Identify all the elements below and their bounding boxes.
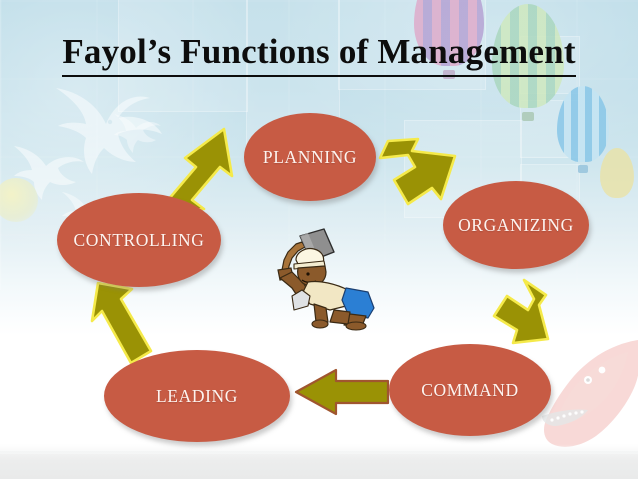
slide-canvas: Fayol’s Functions of Management xyxy=(0,0,638,479)
node-planning-label: PLANNING xyxy=(263,147,357,168)
page-title-text: Fayol’s Functions of Management xyxy=(62,32,575,77)
node-command[interactable]: COMMAND xyxy=(389,344,551,436)
node-controlling-label: CONTROLLING xyxy=(73,230,204,251)
worker-with-hammer-icon xyxy=(258,226,384,332)
bottom-band xyxy=(0,451,638,479)
node-organizing-label: ORGANIZING xyxy=(458,215,574,236)
node-controlling[interactable]: CONTROLLING xyxy=(57,193,221,287)
node-leading-label: LEADING xyxy=(156,386,238,407)
balloon-yellow xyxy=(600,148,634,208)
node-organizing[interactable]: ORGANIZING xyxy=(443,181,589,269)
node-command-label: COMMAND xyxy=(421,380,519,401)
node-leading[interactable]: LEADING xyxy=(104,350,290,442)
node-planning[interactable]: PLANNING xyxy=(244,113,376,201)
page-title: Fayol’s Functions of Management xyxy=(0,32,638,77)
dove-small-icon xyxy=(108,110,166,156)
